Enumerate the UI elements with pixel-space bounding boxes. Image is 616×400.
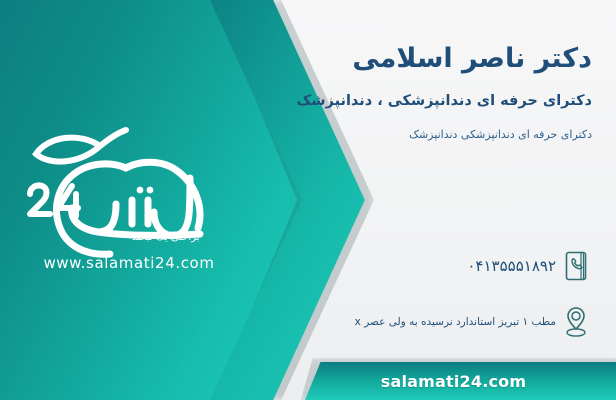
contact-row-phone[interactable]: ۰۴۱۳۵۵۵۱۸۹۲	[266, 244, 596, 288]
phone-book-icon	[556, 244, 596, 288]
phone-number: ۰۴۱۳۵۵۵۱۸۹۲	[266, 257, 556, 275]
contact-block: ۰۴۱۳۵۵۵۱۸۹۲ مطب ۱ تبریز استاندارد نرسیده…	[266, 244, 596, 356]
doctor-specialty-sub: دکترای حرفه ای دندانپزشکی دندانپزشک	[172, 128, 592, 141]
footer-website[interactable]: salamati24.com	[381, 372, 541, 391]
location-pin-icon	[556, 300, 596, 344]
contact-row-address[interactable]: مطب ۱ تبریز استاندارد نرسیده به ولی عصر …	[266, 300, 596, 344]
business-card: براحتی یک لبخند www.salamati24.com دکتر …	[0, 0, 616, 400]
logo-tagline: براحتی یک لبخند	[132, 232, 244, 243]
footer-bar: salamati24.com	[305, 362, 616, 400]
logo-url: www.salamati24.com	[22, 254, 236, 272]
address-text: مطب ۱ تبریز استاندارد نرسیده به ولی عصر …	[266, 315, 556, 330]
doctor-specialty: دکترای حرفه ای دندانپزشکی ، دندانپزشک	[172, 93, 592, 109]
doctor-name: دکتر ناصر اسلامی	[192, 42, 592, 76]
